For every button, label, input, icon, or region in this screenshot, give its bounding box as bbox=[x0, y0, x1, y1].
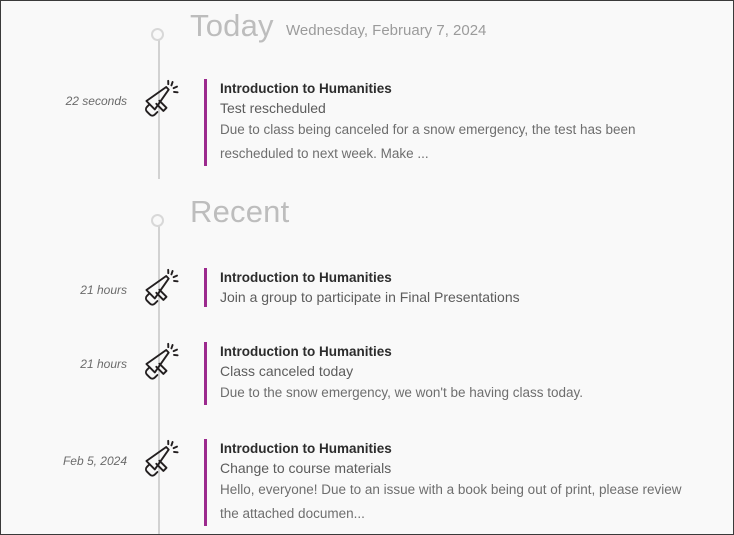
notification-text: Hello, everyone! Due to an issue with a … bbox=[220, 478, 690, 526]
notification-course: Introduction to Humanities bbox=[220, 79, 704, 98]
timeline-dot-today bbox=[151, 28, 164, 41]
notification-text: Due to class being canceled for a snow e… bbox=[220, 118, 690, 166]
notification-content: Introduction to Humanities Change to cou… bbox=[204, 439, 704, 526]
notification-course: Introduction to Humanities bbox=[220, 439, 704, 458]
section-header-recent: Recent bbox=[1, 214, 734, 264]
notification-subject: Join a group to participate in Final Pre… bbox=[220, 287, 704, 307]
section-header-today: Today Wednesday, February 7, 2024 bbox=[1, 28, 734, 78]
notification-content: Introduction to Humanities Test reschedu… bbox=[204, 79, 704, 166]
megaphone-icon bbox=[134, 439, 180, 485]
notification-course: Introduction to Humanities bbox=[220, 342, 704, 361]
section-date-today: Wednesday, February 7, 2024 bbox=[286, 22, 486, 39]
timeline-gap-today bbox=[151, 1, 169, 29]
notification-subject: Change to course materials bbox=[220, 458, 704, 478]
notification-subject: Test rescheduled bbox=[220, 98, 704, 118]
notification-content: Introduction to Humanities Join a group … bbox=[204, 268, 704, 307]
section-title-today: Today bbox=[190, 8, 274, 44]
megaphone-icon bbox=[134, 268, 180, 314]
megaphone-icon bbox=[134, 79, 180, 125]
timeline-gap-recent bbox=[151, 179, 169, 219]
megaphone-icon bbox=[134, 342, 180, 388]
notification-text: Due to the snow emergency, we won't be h… bbox=[220, 381, 690, 405]
notification-time: 21 hours bbox=[1, 357, 127, 371]
notification-time: 22 seconds bbox=[1, 94, 127, 108]
notification-course: Introduction to Humanities bbox=[220, 268, 704, 287]
timeline-dot-recent bbox=[151, 214, 164, 227]
section-title-recent: Recent bbox=[190, 194, 289, 230]
notifications-page: Today Wednesday, February 7, 2024 22 sec… bbox=[0, 0, 734, 535]
notification-time: Feb 5, 2024 bbox=[1, 454, 127, 468]
notification-time: 21 hours bbox=[1, 283, 127, 297]
notification-content: Introduction to Humanities Class cancele… bbox=[204, 342, 704, 405]
notification-subject: Class canceled today bbox=[220, 361, 704, 381]
